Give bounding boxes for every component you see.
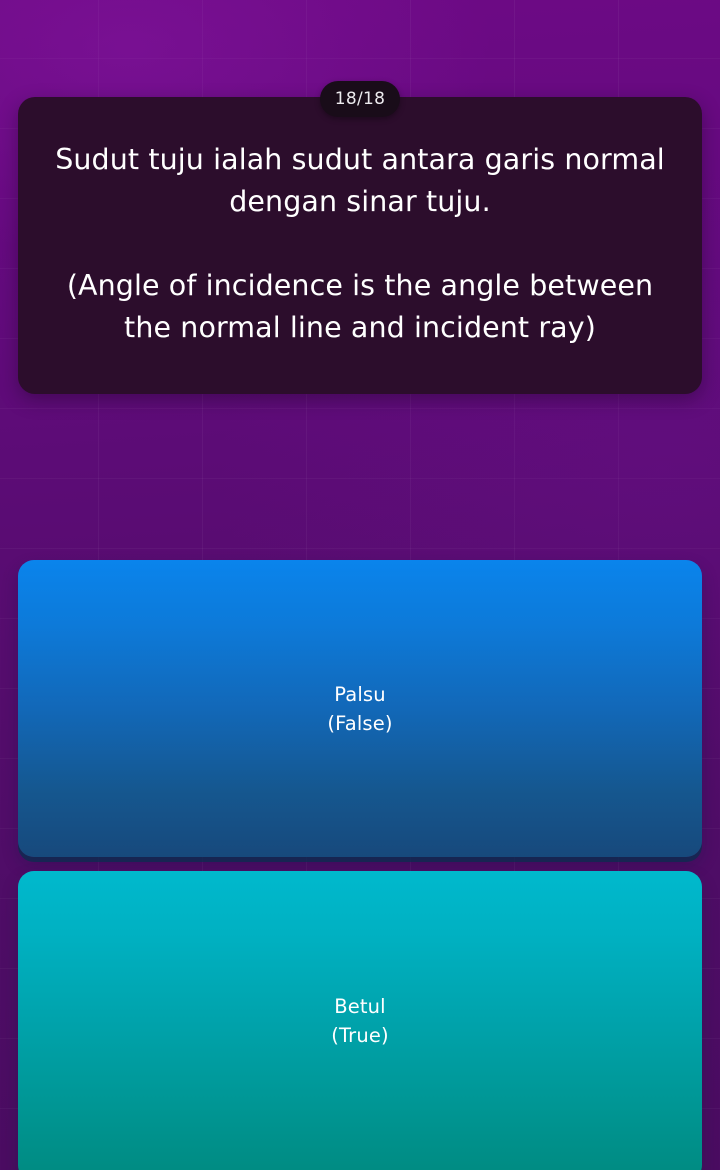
answer-option-false[interactable]: Palsu (False): [18, 560, 702, 857]
quiz-screen: 18/18 Sudut tuju ialah sudut antara gari…: [0, 0, 720, 1170]
question-text: Sudut tuju ialah sudut antara garis norm…: [44, 139, 676, 349]
question-counter-badge: 18/18: [320, 81, 400, 117]
answer-option-true-label: Betul (True): [331, 992, 389, 1050]
answer-option-true[interactable]: Betul (True): [18, 871, 702, 1170]
question-counter-label: 18/18: [335, 89, 386, 109]
answer-option-false-label: Palsu (False): [327, 680, 392, 738]
question-card: Sudut tuju ialah sudut antara garis norm…: [18, 97, 702, 394]
